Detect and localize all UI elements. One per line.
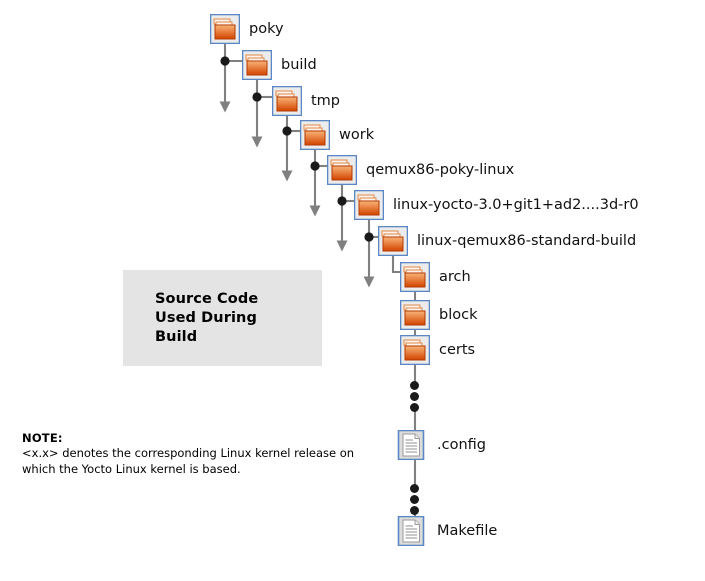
folder-icon: [354, 190, 384, 220]
tree-node-certs[interactable]: certs: [400, 335, 475, 365]
folder-icon: [242, 50, 272, 80]
folder-icon: [210, 14, 240, 44]
tree-node-build[interactable]: build: [242, 50, 317, 80]
tree-node-linux-yocto[interactable]: linux-yocto-3.0+git1+ad2....3d-r0: [354, 190, 639, 220]
tree-connectors: [0, 0, 705, 581]
folder-icon: [378, 226, 408, 256]
tree-node-label: .config: [437, 438, 486, 453]
tree-node-poky[interactable]: poky: [210, 14, 284, 44]
diagram-canvas: Source Code Used During Build NOTE: <x.x…: [0, 0, 705, 581]
note-block: NOTE: <x.x> denotes the corresponding Li…: [22, 431, 382, 477]
legend-label: Source Code Used During Build: [123, 290, 258, 347]
tree-node-qemux86-poky-linux[interactable]: qemux86-poky-linux: [327, 155, 514, 185]
tree-node-label: certs: [439, 343, 475, 358]
tree-node-label: qemux86-poky-linux: [366, 163, 514, 178]
folder-icon: [400, 262, 430, 292]
tree-node-label: poky: [249, 22, 284, 37]
legend-box: Source Code Used During Build: [123, 270, 322, 366]
tree-node-label: Makefile: [437, 524, 497, 539]
tree-node-label: tmp: [311, 94, 340, 109]
tree-node-config[interactable]: .config: [396, 430, 486, 460]
tree-node-label: build: [281, 58, 317, 73]
tree-node-makefile[interactable]: Makefile: [396, 516, 497, 546]
tree-node-standard-build[interactable]: linux-qemux86-standard-build: [378, 226, 636, 256]
tree-node-tmp[interactable]: tmp: [272, 86, 340, 116]
tree-node-work[interactable]: work: [300, 120, 374, 150]
folder-icon: [327, 155, 357, 185]
note-title: NOTE:: [22, 431, 382, 446]
folder-icon: [400, 335, 430, 365]
tree-node-label: work: [339, 128, 374, 143]
note-body: <x.x> denotes the corresponding Linux ke…: [22, 446, 382, 477]
folder-icon: [300, 120, 330, 150]
file-icon: [396, 430, 426, 460]
tree-node-label: linux-qemux86-standard-build: [417, 234, 636, 249]
tree-node-block[interactable]: block: [400, 300, 477, 330]
tree-node-arch[interactable]: arch: [400, 262, 471, 292]
tree-node-label: arch: [439, 270, 471, 285]
tree-node-label: linux-yocto-3.0+git1+ad2....3d-r0: [393, 198, 639, 213]
folder-icon: [272, 86, 302, 116]
file-icon: [396, 516, 426, 546]
tree-node-label: block: [439, 308, 477, 323]
folder-icon: [400, 300, 430, 330]
